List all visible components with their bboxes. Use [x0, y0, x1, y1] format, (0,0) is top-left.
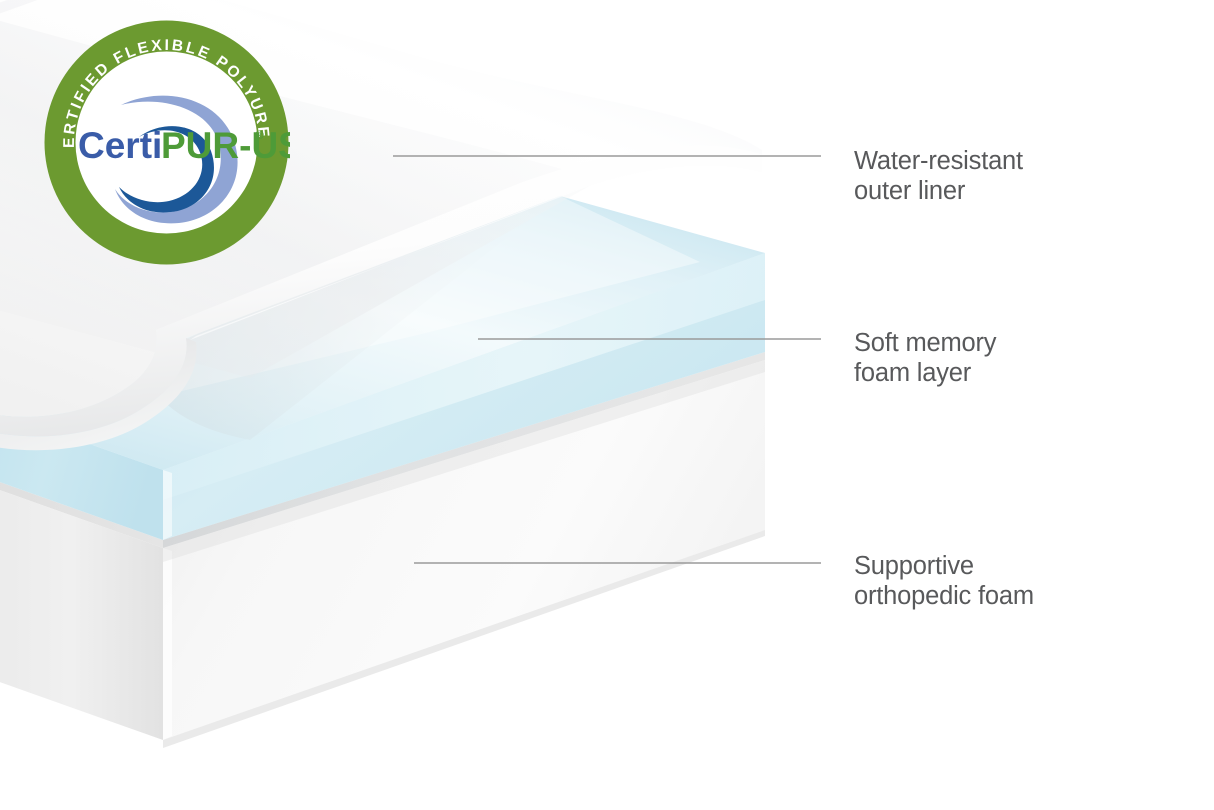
certipur-us-badge-icon: CONTAINS CERTIFIED FLEXIBLE POLYURETHANE…	[43, 19, 290, 266]
badge-wordmark: Certi PUR-US ®	[78, 125, 290, 166]
support-foam-corner-highlight	[163, 548, 172, 740]
badge-wordmark-certi: Certi	[78, 125, 162, 166]
badge-wordmark-pur-us: PUR-US	[161, 125, 290, 166]
diagram-canvas: CONTAINS CERTIFIED FLEXIBLE POLYURETHANE…	[0, 0, 1214, 810]
badge-registered-trademark-icon: ®	[255, 128, 264, 142]
memory-foam-corner-highlight	[163, 470, 172, 540]
certipur-us-badge: CONTAINS CERTIFIED FLEXIBLE POLYURETHANE…	[43, 19, 290, 266]
callout-label-supportive-orthopedic-foam: Supportive orthopedic foam	[854, 551, 1034, 611]
callout-label-water-resistant-outer-liner: Water-resistant outer liner	[854, 146, 1023, 206]
callout-label-soft-memory-foam: Soft memory foam layer	[854, 328, 996, 388]
